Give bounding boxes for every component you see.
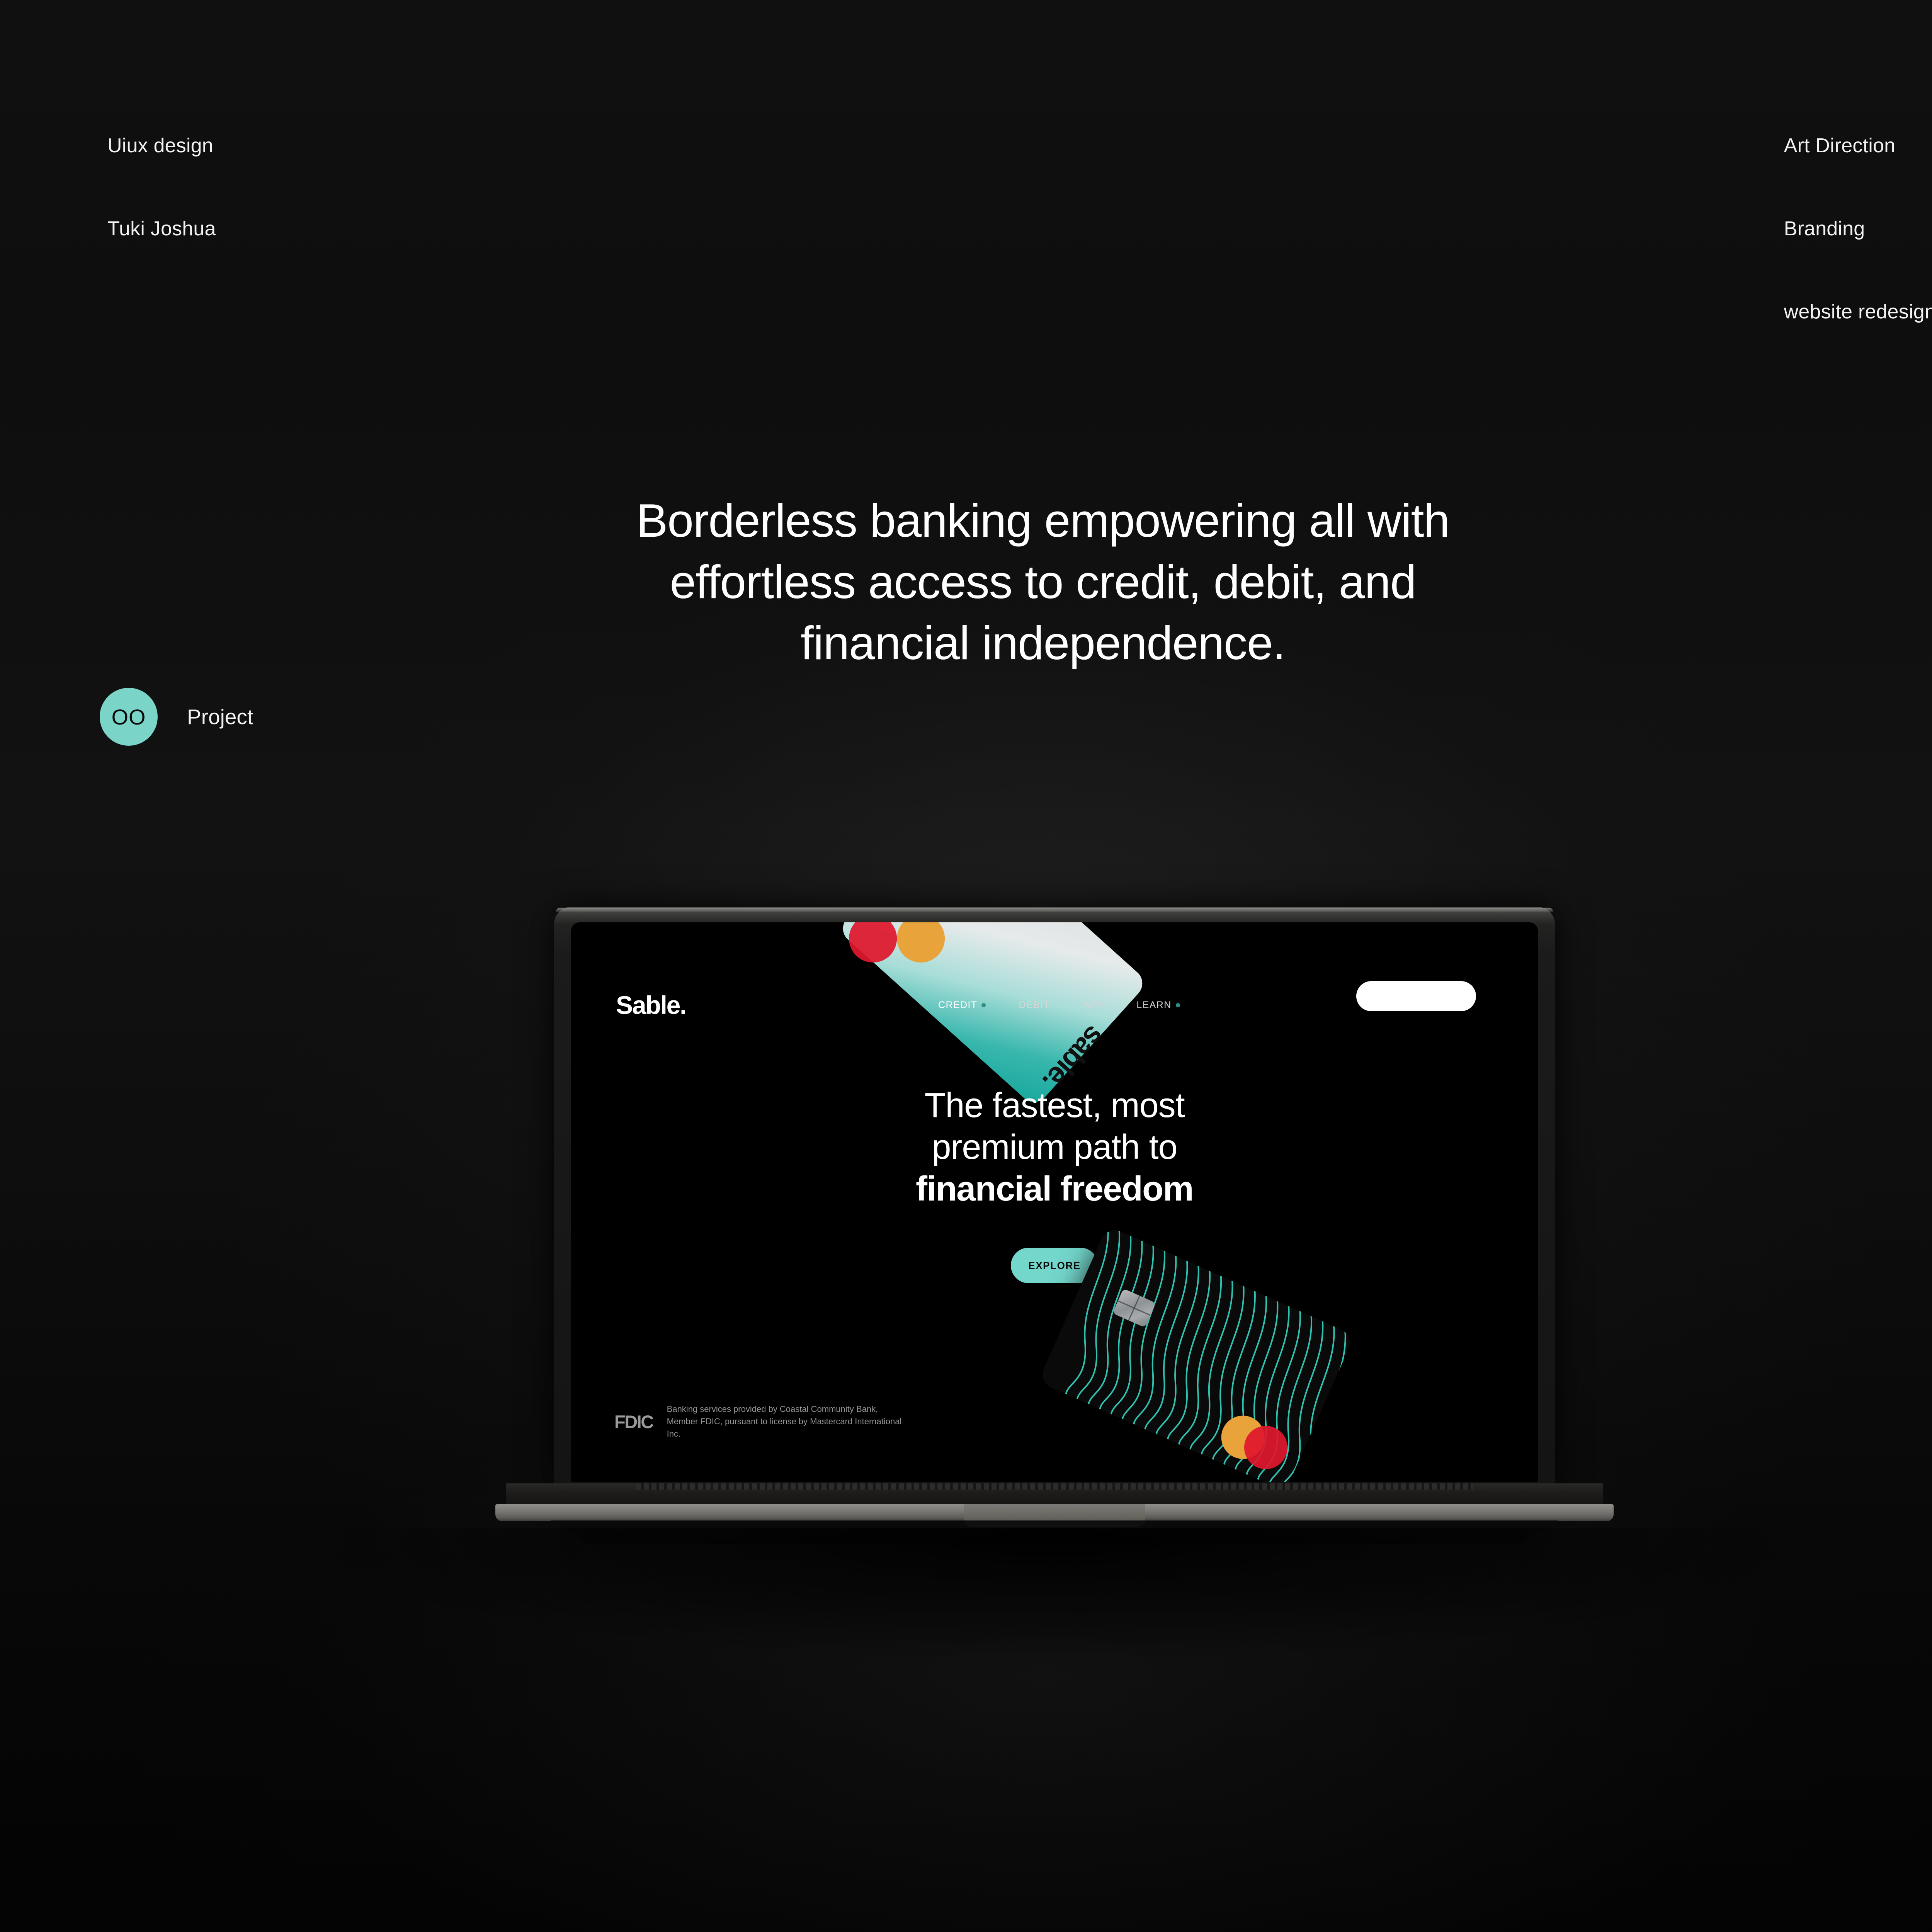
- hero-line-2: premium path to: [803, 1126, 1306, 1168]
- laptop-base-underside: [512, 1520, 1597, 1544]
- hero-line-1: The fastest, most: [803, 1085, 1306, 1126]
- laptop-lid: sable. Sable. CREDIT: [554, 907, 1555, 1490]
- fdic-logo: FDIC: [614, 1413, 653, 1431]
- site-hero-heading: The fastest, most premium path to financ…: [803, 1085, 1306, 1210]
- avatar-initials: OO: [111, 704, 146, 730]
- website-mockup: sable. Sable. CREDIT: [571, 922, 1538, 1482]
- page-headline: Borderless banking empowering all with e…: [583, 490, 1503, 674]
- meta-left-line-1: Uiux design: [107, 132, 216, 160]
- nav-link-credit[interactable]: CREDIT: [938, 1000, 986, 1011]
- mastercard-icon: [869, 922, 945, 963]
- fdic-text: Banking services provided by Coastal Com…: [667, 1403, 906, 1440]
- site-cta-pill-button[interactable]: [1356, 981, 1476, 1011]
- nav-link-credit-label: CREDIT: [938, 1000, 977, 1011]
- site-nav-links: CREDIT DEBIT APP LEARN: [938, 1000, 1180, 1011]
- meta-right: Art Direction Branding website redesign: [1784, 77, 1932, 381]
- mastercard-orange-circle: [897, 922, 945, 963]
- page-root: Uiux design Tuki Joshua Art Direction Br…: [0, 0, 1932, 1932]
- meta-right-line-3: website redesign: [1784, 298, 1932, 326]
- laptop-keyboard-edge: [636, 1483, 1473, 1490]
- nav-link-app-label: APP: [1083, 1000, 1104, 1011]
- avatar: OO: [100, 688, 158, 746]
- meta-right-line-1: Art Direction: [1784, 132, 1932, 160]
- project-row[interactable]: OO Project: [100, 688, 253, 746]
- nav-link-debit-label: DEBIT: [1019, 1000, 1050, 1011]
- nav-dot-icon: [1176, 1003, 1180, 1007]
- project-label: Project: [187, 704, 253, 729]
- nav-link-app[interactable]: APP: [1083, 1000, 1104, 1011]
- hero-line-3: financial freedom: [803, 1168, 1306, 1210]
- fdic-disclaimer: FDIC Banking services provided by Coasta…: [614, 1403, 906, 1440]
- laptop-mockup: sable. Sable. CREDIT: [554, 907, 1555, 1627]
- meta-left-line-2: Tuki Joshua: [107, 215, 216, 243]
- laptop-screen: sable. Sable. CREDIT: [571, 922, 1538, 1482]
- nav-dot-icon: [981, 1003, 986, 1007]
- laptop-drop-shadow: [291, 1528, 1818, 1660]
- nav-link-learn[interactable]: LEARN: [1136, 1000, 1180, 1011]
- nav-link-learn-label: LEARN: [1136, 1000, 1171, 1011]
- nav-link-debit[interactable]: DEBIT: [1019, 1000, 1050, 1011]
- site-logo[interactable]: Sable.: [616, 990, 686, 1020]
- mastercard-red-circle: [849, 922, 897, 963]
- meta-left: Uiux design Tuki Joshua: [107, 77, 216, 298]
- meta-right-line-2: Branding: [1784, 215, 1932, 243]
